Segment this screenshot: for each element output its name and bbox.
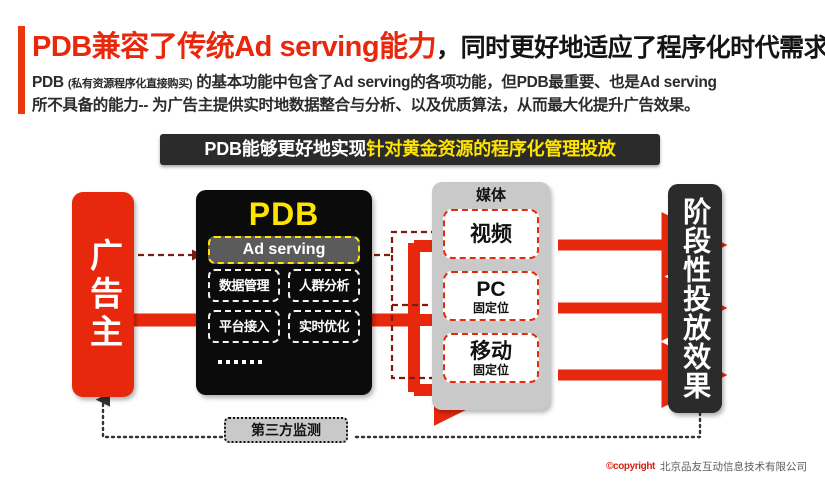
third-party-monitoring-box[interactable]: 第三方监测 [224,417,348,443]
pdb-capability-grid: 数据管理 人群分析 平台接入 实时优化 [208,269,360,353]
pdb-cell-label: 实时优化 [299,319,349,335]
advertiser-box[interactable]: 广告主 [72,192,134,397]
section-banner: PDB能够更好地实现针对黄金资源的程序化管理投放 [160,134,660,165]
header-accent-bar [18,26,25,114]
footer: ©copyright 北京品友互动信息技术有限公司 [606,459,807,475]
page-title-red: PDB兼容了传统Ad serving能力 [32,31,436,63]
media-item-label: 移动 [470,340,512,363]
pdb-cell-realtime-optimization[interactable]: 实时优化 [288,310,360,343]
subtitle-lead: PDB [32,74,68,91]
media-item-label: PC [476,278,505,301]
media-item-mobile[interactable]: 移动 固定位 [443,333,539,383]
pdb-cell-label: 数据管理 [219,278,269,294]
third-party-monitoring-label: 第三方监测 [251,420,321,440]
pdb-cell-label: 平台接入 [219,319,269,335]
page-title-black: ，同时更好地适应了程序化时代需求 [436,34,825,62]
pdb-cell-platform-access[interactable]: 平台接入 [208,310,280,343]
page-subtitle: PDB (私有资源程序化直接购买) 的基本功能中包含了Ad serving的各项… [32,72,812,117]
ellipsis-dots-icon [218,360,262,364]
pdb-cell-audience-analysis[interactable]: 人群分析 [288,269,360,302]
subtitle-line-2: 所不具备的能力-‐ 为广告主提供实时地数据整合与分析、以及优质算法，从而最大化提… [32,95,812,117]
banner-text-yellow: 针对黄金资源的程序化管理投放 [366,134,615,165]
result-box[interactable]: 阶段性投放效果 [668,184,722,413]
pdb-box[interactable]: PDB Ad serving 数据管理 人群分析 平台接入 实时优化 [196,190,372,395]
media-panel-title: 媒体 [432,186,550,206]
media-item-sublabel: 固定位 [473,302,509,315]
media-panel: 媒体 视频 PC 固定位 移动 固定位 [432,182,550,410]
company-name: 北京品友互动信息技术有限公司 [660,460,807,474]
page-title: PDB兼容了传统Ad serving能力，同时更好地适应了程序化时代需求 [32,27,822,67]
media-item-sublabel: 固定位 [473,364,509,377]
ad-serving-chip[interactable]: Ad serving [208,236,360,264]
pdb-cell-data-management[interactable]: 数据管理 [208,269,280,302]
pdb-cell-label: 人群分析 [299,278,349,294]
advertiser-label: 广告主 [86,238,121,352]
subtitle-rest: 的基本功能中包含了Ad serving的各项功能，但PDB最重要、也是Ad se… [192,74,716,91]
copyright-mark: ©copyright [606,460,655,474]
media-item-pc[interactable]: PC 固定位 [443,271,539,321]
banner-text-white: PDB能够更好地实现 [204,134,366,165]
result-label: 阶段性投放效果 [680,197,710,400]
pdb-title: PDB [196,196,372,232]
media-item-label: 视频 [470,223,512,246]
ad-serving-label: Ad serving [243,238,326,262]
subtitle-parenthetical: (私有资源程序化直接购买) [68,78,192,90]
subtitle-line-1: PDB (私有资源程序化直接购买) 的基本功能中包含了Ad serving的各项… [32,72,812,95]
media-item-video[interactable]: 视频 [443,209,539,259]
slide-canvas: PDB兼容了传统Ad serving能力，同时更好地适应了程序化时代需求 PDB… [0,0,825,481]
